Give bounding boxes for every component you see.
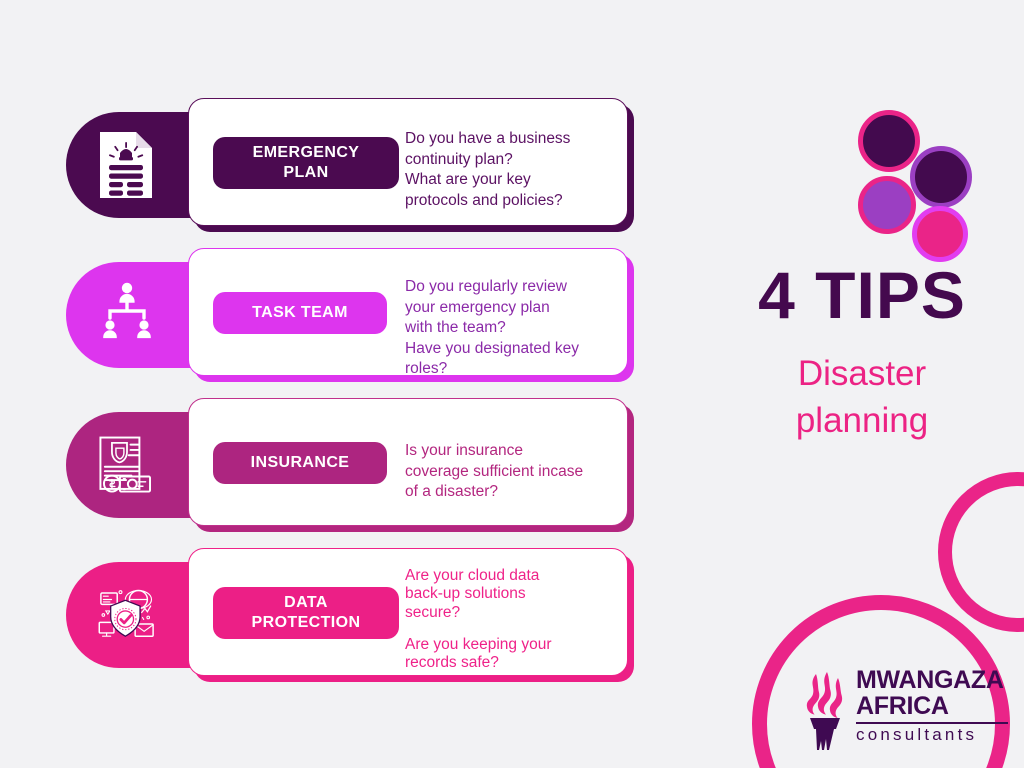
tip-row-task-team: TASK TEAM Do you regularly review your e… [0, 240, 660, 390]
tip-question-part1: Are your cloud data back-up solutions se… [405, 567, 539, 621]
tip-card-task-team[interactable]: TASK TEAM Do you regularly review your e… [188, 248, 628, 376]
tip-question-emergency-plan: Do you have a business continuity plan? … [405, 129, 641, 211]
tip-card-emergency-plan[interactable]: EMERGENCY PLAN Do you have a business co… [188, 98, 628, 226]
brand-line-1: MWANGAZA [856, 668, 1006, 694]
decorative-dot-3 [858, 176, 916, 234]
tip-card-insurance[interactable]: INSURANCE Is your insurance coverage suf… [188, 398, 628, 526]
tip-card-data-protection[interactable]: DATA PROTECTION Are your cloud data back… [188, 548, 628, 676]
torch-flame-icon [796, 670, 848, 750]
tip-question-data-protection: Are your cloud data back-up solutions se… [405, 567, 641, 672]
page-title: 4 TIPS [700, 262, 1024, 328]
tip-question-task-team: Do you regularly review your emergency p… [405, 277, 641, 380]
tip-row-emergency-plan: EMERGENCY PLAN Do you have a business co… [0, 90, 660, 240]
brand-line-3: consultants [856, 726, 1006, 744]
tip-row-insurance: INSURANCE Is your insurance coverage suf… [0, 390, 660, 540]
tip-row-data-protection: DATA PROTECTION Are your cloud data back… [0, 540, 660, 690]
insurance-policy-money-icon [96, 430, 158, 500]
tip-pill-emergency-plan[interactable]: EMERGENCY PLAN [213, 137, 399, 189]
decorative-dot-4 [912, 206, 968, 262]
org-chart-people-icon [96, 280, 158, 350]
decorative-dot-1 [858, 110, 920, 172]
tip-pill-task-team[interactable]: TASK TEAM [213, 292, 387, 334]
tip-question-part2: Are you keeping your records safe? [405, 636, 641, 673]
page-subtitle: Disaster planning [700, 350, 1024, 445]
tip-question-insurance: Is your insurance coverage sufficient in… [405, 441, 655, 503]
brand-logo: MWANGAZA AFRICA consultants [796, 668, 1006, 754]
decorative-dot-2 [910, 146, 972, 208]
brand-logo-text: MWANGAZA AFRICA consultants [856, 668, 1006, 743]
infographic-canvas: EMERGENCY PLAN Do you have a business co… [0, 0, 1024, 768]
shield-check-network-icon [96, 580, 158, 650]
brand-line-2: AFRICA [856, 694, 1006, 720]
tip-pill-insurance[interactable]: INSURANCE [213, 442, 387, 484]
document-siren-icon [96, 130, 158, 200]
tip-pill-data-protection[interactable]: DATA PROTECTION [213, 587, 399, 639]
decorative-dot-cluster [854, 108, 984, 252]
brand-divider [856, 722, 1008, 724]
decorative-ring-small [938, 472, 1024, 632]
